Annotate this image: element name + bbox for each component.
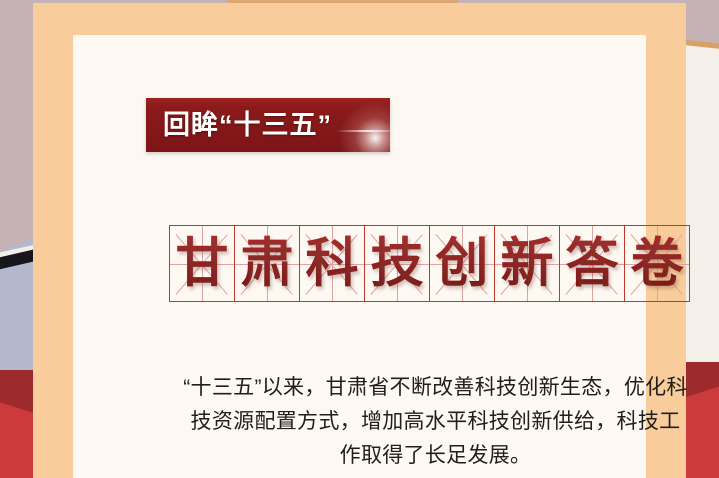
title-character: 创 (430, 226, 494, 301)
main-card-panel: 回眸“十三五” 甘 肃 (73, 35, 646, 478)
title-character: 科 (300, 226, 364, 301)
body-paragraph: “十三五”以来，甘肃省不断改善科技创新生态，优化科技资源配置方式，增加高水平科技… (183, 371, 688, 473)
title-character: 甘 (170, 226, 234, 301)
title-character: 卷 (625, 226, 689, 301)
poster-canvas: 回眸“十三五” 甘 肃 (0, 0, 719, 478)
title-character: 答 (560, 226, 624, 301)
title-grid-cell: 答 (559, 225, 625, 302)
title-grid-cell: 创 (429, 225, 495, 302)
title-character: 技 (365, 226, 429, 301)
title-rice-grid: 甘 肃 科 (169, 225, 690, 302)
title-grid-cell: 甘 (169, 225, 235, 302)
title-grid-cell: 技 (364, 225, 430, 302)
title-character: 肃 (235, 226, 299, 301)
sparkle-icon (328, 102, 390, 152)
section-banner: 回眸“十三五” (146, 98, 390, 152)
section-banner-label: 回眸“十三五” (146, 112, 332, 139)
title-grid-cell: 肃 (234, 225, 300, 302)
title-character: 新 (495, 226, 559, 301)
title-grid-cell: 新 (494, 225, 560, 302)
main-card: 回眸“十三五” 甘 肃 (33, 3, 686, 478)
title-grid-cell: 卷 (624, 225, 690, 302)
title-grid-cell: 科 (299, 225, 365, 302)
